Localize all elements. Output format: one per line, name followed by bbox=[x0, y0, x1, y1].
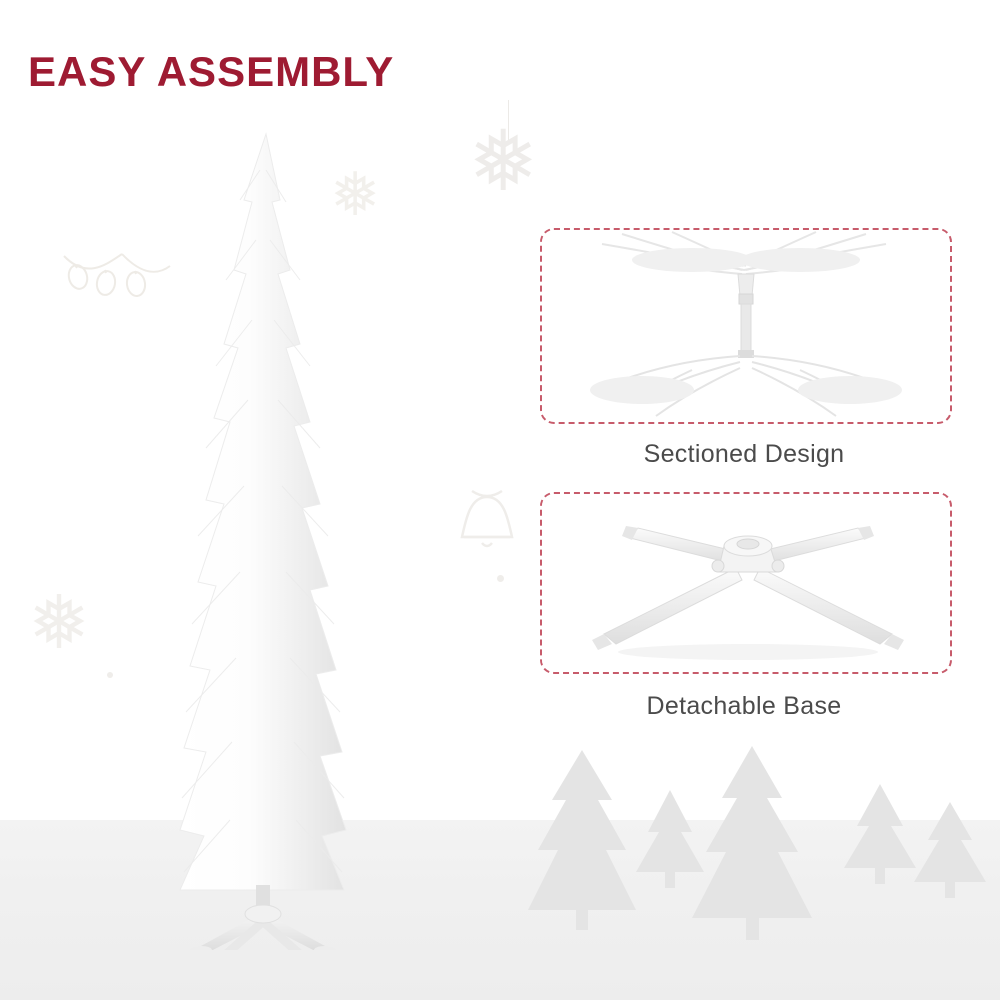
ornament-hanging-line bbox=[508, 100, 509, 140]
callout-card-detachable-base bbox=[540, 492, 952, 674]
product-tree-image bbox=[120, 130, 410, 950]
snowflake-icon: ❅ bbox=[28, 580, 90, 666]
bell-icon bbox=[452, 485, 522, 565]
callout-card-sectioned-design bbox=[540, 228, 952, 424]
snowflake-icon: ❅ bbox=[468, 112, 538, 210]
callout-image-sectioned-design bbox=[542, 230, 950, 422]
background-tree-silhouettes bbox=[520, 740, 1000, 970]
detachable-base-illustration bbox=[542, 494, 946, 668]
callout-image-detachable-base bbox=[542, 494, 950, 672]
sectioned-design-illustration bbox=[542, 230, 946, 418]
decor-dot bbox=[497, 575, 504, 582]
callout-caption-detachable-base: Detachable Base bbox=[538, 692, 950, 721]
callout-caption-sectioned-design: Sectioned Design bbox=[538, 440, 950, 469]
decor-dot bbox=[107, 672, 113, 678]
page-title: EASY ASSEMBLY bbox=[28, 48, 394, 96]
product-image-canvas: EASY ASSEMBLY ❅ ❅ ❅ bbox=[0, 0, 1000, 1000]
tree-stand bbox=[190, 905, 336, 950]
